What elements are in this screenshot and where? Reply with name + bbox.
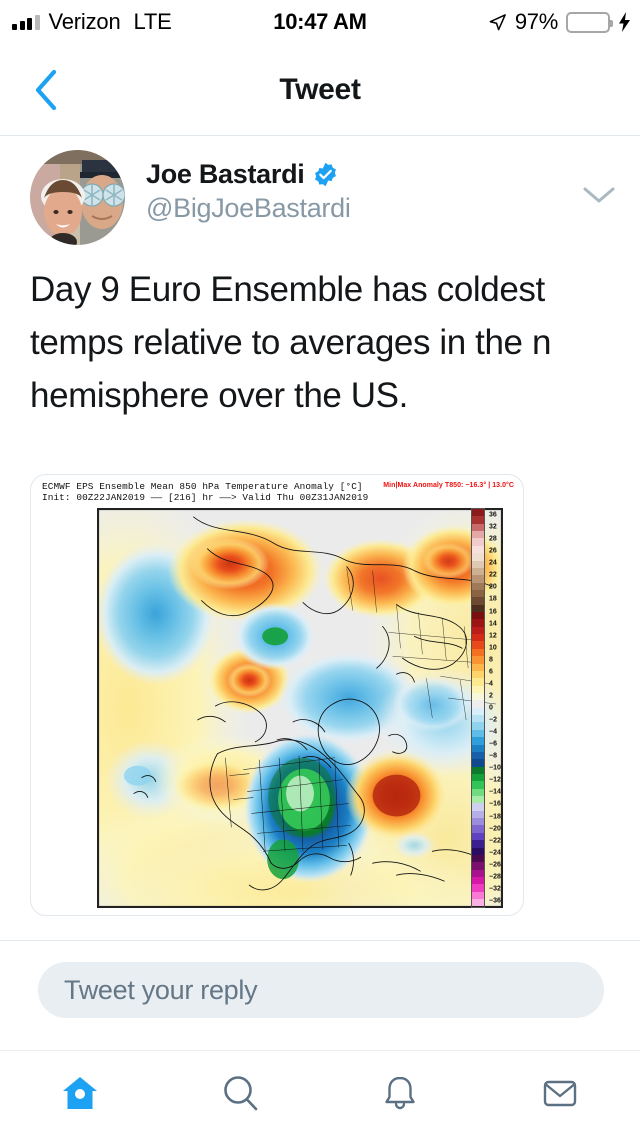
colorbar-band <box>472 855 484 862</box>
colorbar-band <box>472 509 484 516</box>
colorbar-band <box>472 730 484 737</box>
colorbar-band <box>472 656 484 663</box>
chart-title-line2: Init: 00Z22JAN2019 —— [216] hr ——> Valid… <box>42 492 368 503</box>
colorbar-band <box>472 590 484 597</box>
weather-chart: ECMWF EPS Ensemble Mean 850 hPa Temperat… <box>31 475 523 915</box>
colorbar-band <box>472 715 484 722</box>
status-bar-right: 97% <box>488 9 631 35</box>
colorbar-band <box>472 700 484 707</box>
colorbar-band <box>472 641 484 648</box>
colorbar-tick-label: 10 <box>489 644 497 651</box>
colorbar-tick-label: −6 <box>489 741 497 748</box>
status-bar: Verizon LTE 10:47 AM 97% <box>0 0 640 44</box>
chart-title-line1: ECMWF EPS Ensemble Mean 850 hPa Temperat… <box>42 481 363 492</box>
colorbar-tick-label: −2 <box>489 717 497 724</box>
colorbar-band <box>472 811 484 818</box>
colorbar-band <box>472 803 484 810</box>
colorbar-band <box>472 516 484 523</box>
colorbar-band <box>472 686 484 693</box>
colorbar-band <box>472 884 484 891</box>
bell-icon <box>379 1072 421 1114</box>
location-arrow-icon <box>488 13 507 32</box>
tweet-media-card[interactable]: ECMWF EPS Ensemble Mean 850 hPa Temperat… <box>30 474 524 916</box>
colorbar: 36322826242220181614121086420−2−4−6−8−10… <box>471 508 511 908</box>
charging-bolt-icon <box>618 12 631 32</box>
colorbar-tick-label: 18 <box>489 596 497 603</box>
colorbar-band <box>472 605 484 612</box>
colorbar-band <box>472 789 484 796</box>
colorbar-strip <box>471 508 485 908</box>
colorbar-band <box>472 561 484 568</box>
tab-search[interactable] <box>160 1050 320 1136</box>
page-title: Tweet <box>0 73 640 107</box>
colorbar-band <box>472 546 484 553</box>
colorbar-tick-label: 12 <box>489 632 497 639</box>
colorbar-tick-label: −26 <box>489 861 501 868</box>
colorbar-band <box>472 840 484 847</box>
colorbar-tick-label: 14 <box>489 620 497 627</box>
colorbar-tick-label: 16 <box>489 608 497 615</box>
battery-percent-label: 97% <box>515 9 558 35</box>
author-names: Joe Bastardi @BigJoeBastardi <box>146 159 351 224</box>
colorbar-band <box>472 664 484 671</box>
avatar[interactable] <box>30 150 125 245</box>
colorbar-tick-label: 28 <box>489 536 497 543</box>
tweet-text: Day 9 Euro Ensemble has coldest temps re… <box>30 263 610 422</box>
colorbar-tick-label: −4 <box>489 729 497 736</box>
colorbar-tick-label: 26 <box>489 548 497 555</box>
colorbar-band <box>472 627 484 634</box>
colorbar-band <box>472 759 484 766</box>
bottom-tab-bar <box>0 1050 640 1136</box>
colorbar-tick-label: −14 <box>489 789 501 796</box>
colorbar-band <box>472 862 484 869</box>
colorbar-band <box>472 531 484 538</box>
colorbar-band <box>472 568 484 575</box>
colorbar-band <box>472 848 484 855</box>
colorbar-band <box>472 877 484 884</box>
colorbar-band <box>472 538 484 545</box>
home-icon <box>59 1072 101 1114</box>
colorbar-band <box>472 524 484 531</box>
reply-divider <box>0 940 640 941</box>
colorbar-band <box>472 737 484 744</box>
colorbar-tick-label: 24 <box>489 560 497 567</box>
colorbar-band <box>472 597 484 604</box>
navigation-bar: Tweet <box>0 44 640 136</box>
envelope-icon <box>539 1072 581 1114</box>
chart-title: ECMWF EPS Ensemble Mean 850 hPa Temperat… <box>42 481 368 504</box>
tweet-author-row: Joe Bastardi @BigJoeBastardi <box>0 137 640 257</box>
colorbar-band <box>472 752 484 759</box>
verified-badge-icon <box>313 162 338 187</box>
reply-input[interactable]: Tweet your reply <box>38 962 604 1018</box>
colorbar-tick-label: −12 <box>489 777 501 784</box>
chevron-down-icon[interactable] <box>582 185 616 205</box>
colorbar-band <box>472 774 484 781</box>
colorbar-tick-label: −20 <box>489 825 501 832</box>
colorbar-tick-label: −10 <box>489 765 501 772</box>
colorbar-band <box>472 649 484 656</box>
colorbar-band <box>472 892 484 899</box>
colorbar-tick-label: −24 <box>489 849 501 856</box>
colorbar-band <box>472 833 484 840</box>
navbar-divider <box>0 135 640 136</box>
colorbar-band <box>472 899 484 906</box>
tab-home[interactable] <box>0 1050 160 1136</box>
search-icon <box>219 1072 261 1114</box>
colorbar-tick-labels: 36322826242220181614121086420−2−4−6−8−10… <box>489 508 513 908</box>
colorbar-tick-label: −22 <box>489 837 501 844</box>
battery-icon <box>566 12 610 33</box>
colorbar-band <box>472 825 484 832</box>
colorbar-band <box>472 818 484 825</box>
colorbar-band <box>472 796 484 803</box>
colorbar-band <box>472 708 484 715</box>
colorbar-tick-label: 4 <box>489 680 493 687</box>
colorbar-band <box>472 767 484 774</box>
colorbar-band <box>472 583 484 590</box>
tweet-container: Joe Bastardi @BigJoeBastardi Day 9 Euro … <box>0 137 640 422</box>
tabbar-divider <box>0 1050 640 1051</box>
colorbar-band <box>472 634 484 641</box>
tab-messages[interactable] <box>480 1050 640 1136</box>
colorbar-band <box>472 870 484 877</box>
colorbar-band <box>472 575 484 582</box>
colorbar-tick-label: 0 <box>489 705 493 712</box>
colorbar-band <box>472 619 484 626</box>
map-plot-area <box>97 508 503 908</box>
chart-minmax-label: Min|Max Anomaly T850: −16.3° | 13.0°C <box>383 482 514 489</box>
colorbar-band <box>472 693 484 700</box>
colorbar-tick-label: 2 <box>489 692 493 699</box>
user-handle: @BigJoeBastardi <box>146 193 351 224</box>
colorbar-tick-label: −8 <box>489 753 497 760</box>
colorbar-tick-label: −18 <box>489 813 501 820</box>
colorbar-tick-label: −32 <box>489 885 501 892</box>
colorbar-tick-label: 20 <box>489 584 497 591</box>
colorbar-band <box>472 612 484 619</box>
colorbar-band <box>472 722 484 729</box>
display-name-row: Joe Bastardi <box>146 159 351 190</box>
colorbar-tick-label: 32 <box>489 524 497 531</box>
display-name: Joe Bastardi <box>146 159 304 190</box>
colorbar-band <box>472 745 484 752</box>
tweet-detail-screen: Verizon LTE 10:47 AM 97% Tweet <box>0 0 640 1136</box>
colorbar-tick-label: 8 <box>489 656 493 663</box>
colorbar-tick-label: −36 <box>489 897 501 904</box>
colorbar-band <box>472 781 484 788</box>
colorbar-tick-label: −28 <box>489 873 501 880</box>
colorbar-tick-label: 36 <box>489 512 497 519</box>
colorbar-band <box>472 678 484 685</box>
tab-notifications[interactable] <box>320 1050 480 1136</box>
colorbar-tick-label: 6 <box>489 668 493 675</box>
colorbar-band <box>472 553 484 560</box>
colorbar-band <box>472 671 484 678</box>
colorbar-tick-label: 22 <box>489 572 497 579</box>
colorbar-tick-label: −16 <box>489 801 501 808</box>
reply-placeholder: Tweet your reply <box>64 975 257 1006</box>
